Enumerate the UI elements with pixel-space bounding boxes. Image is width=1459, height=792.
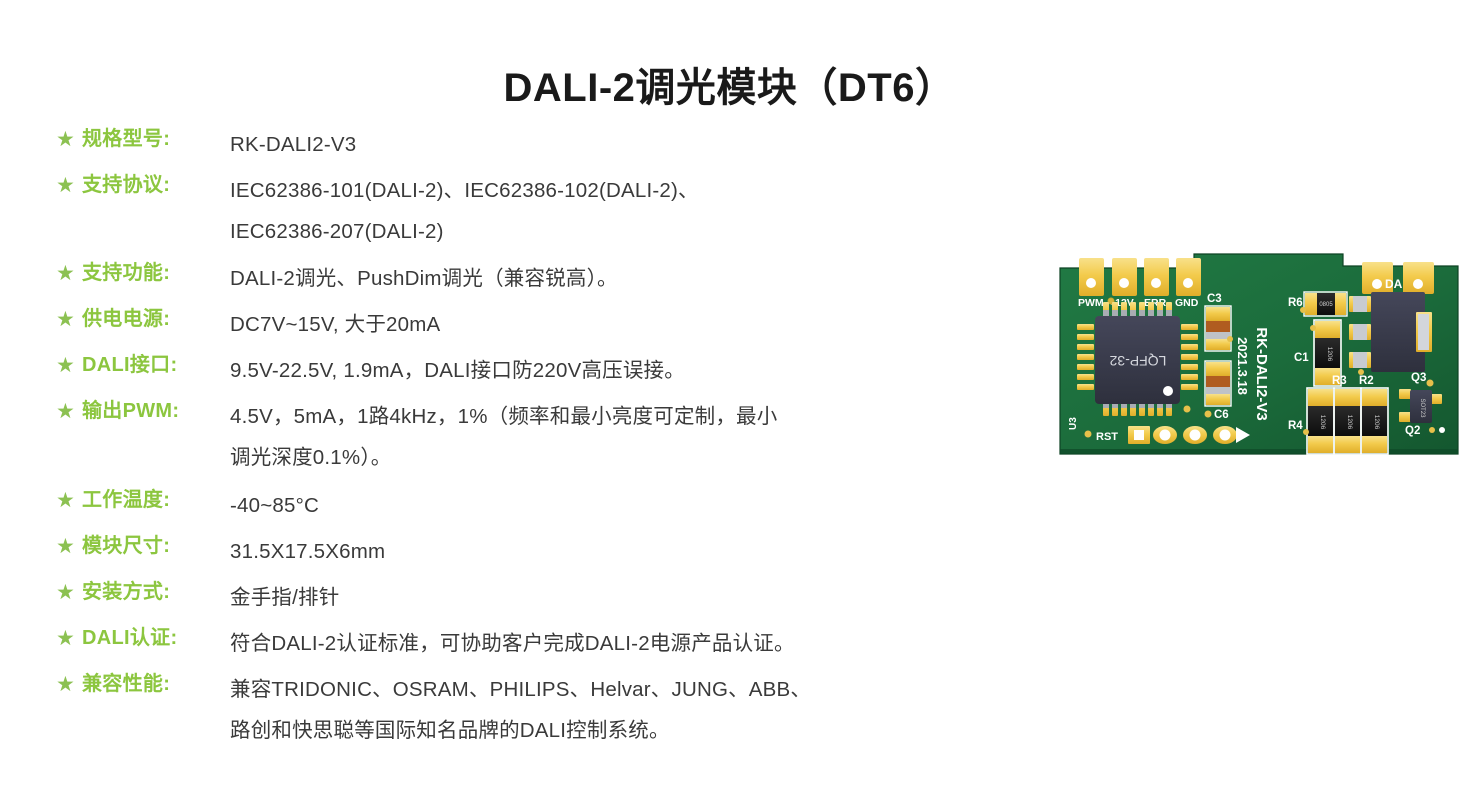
spec-value-model: RK-DALI2-V3 [230,124,976,165]
star-icon: ★ [56,490,82,511]
pcb-board-date: 2021.3.18 [1235,337,1250,395]
star-icon: ★ [56,536,82,557]
spec-row: ★ DALI接口: 9.5V-22.5V, 1.9mA，DALI接口防220V高… [56,350,976,391]
pcb-component-c6: C6 [1205,361,1232,421]
spec-value-line: 9.5V-22.5V, 1.9mA，DALI接口防220V高压误接。 [230,350,976,391]
spec-label-compatibility: 兼容性能: [82,669,230,699]
spec-value-line: DALI-2调光、PushDim调光（兼容锐高）。 [230,258,976,299]
pcb-chip-marking: LQFP-32 [1109,353,1166,369]
spec-row: ★ 工作温度: -40~85°C [56,485,976,526]
spec-value-line: 符合DALI-2认证标准，可协助客户完成DALI-2电源产品认证。 [230,623,976,664]
spec-value-functions: DALI-2调光、PushDim调光（兼容锐高）。 [230,258,976,299]
pcb-label-q2: Q2 [1405,425,1420,437]
pcb-pin-label-err: ERR [1144,297,1167,309]
spec-value-line: 路创和快思聪等国际知名品牌的DALI控制系统。 [230,710,976,751]
spec-value-line: 金手指/排针 [230,577,976,618]
spec-row: ★ 规格型号: RK-DALI2-V3 [56,124,976,165]
star-icon: ★ [56,129,82,150]
spec-value-line: IEC62386-101(DALI-2)、IEC62386-102(DALI-2… [230,170,976,211]
pcb-label-r2: R2 [1359,375,1374,387]
spec-row: ★ 兼容性能: 兼容TRIDONIC、OSRAM、PHILIPS、Helvar、… [56,669,976,751]
spec-value-dali-interface: 9.5V-22.5V, 1.9mA，DALI接口防220V高压误接。 [230,350,976,391]
pcb-board-name: RK-DALI2-V3 [1253,327,1270,420]
pcb-label-q3: Q3 [1411,372,1426,384]
pcb-pin-label-pwm: PWM [1078,297,1104,309]
star-icon: ★ [56,628,82,649]
spec-list: ★ 规格型号: RK-DALI2-V3 ★ 支持协议: IEC62386-101… [56,124,976,751]
spec-label-model: 规格型号: [82,124,230,154]
spec-row: ★ DALI认证: 符合DALI-2认证标准，可协助客户完成DALI-2电源产品… [56,623,976,664]
spec-row: ★ 输出PWM: 4.5V，5mA，1路4kHz，1%（频率和最小亮度可定制，最… [56,396,976,478]
spec-value-line: 4.5V，5mA，1路4kHz，1%（频率和最小亮度可定制，最小 [230,396,976,437]
star-icon: ★ [56,309,82,330]
spec-row: ★ 供电电源: DC7V~15V, 大于20mA [56,304,976,345]
pcb-code-r6: 0805 [1319,302,1333,308]
spec-value-power-supply: DC7V~15V, 大于20mA [230,304,976,345]
spec-value-protocols: IEC62386-101(DALI-2)、IEC62386-102(DALI-2… [230,170,976,252]
pcb-label-r6: R6 [1288,297,1303,309]
pcb-label-da: DA [1385,277,1403,291]
spec-value-line: -40~85°C [230,485,976,526]
pcb-code-c1: 1206 [1326,347,1333,362]
spec-value-pwm-output: 4.5V，5mA，1路4kHz，1%（频率和最小亮度可定制，最小 调光深度0.1… [230,396,976,478]
spec-label-module-size: 模块尺寸: [82,531,230,561]
spec-row: ★ 安装方式: 金手指/排针 [56,577,976,618]
pcb-board-image: PWM +12V ERR GND DA [1058,244,1459,478]
spec-value-line: RK-DALI2-V3 [230,124,976,165]
spec-value-line: DC7V~15V, 大于20mA [230,304,976,345]
spec-value-line: 调光深度0.1%）。 [230,437,976,478]
spec-row: ★ 支持功能: DALI-2调光、PushDim调光（兼容锐高）。 [56,258,976,299]
pcb-label-c3: C3 [1207,293,1222,305]
star-icon: ★ [56,674,82,695]
pcb-label-u3: U3 [1068,417,1079,430]
spec-label-operating-temperature: 工作温度: [82,485,230,515]
spec-value-operating-temperature: -40~85°C [230,485,976,526]
spec-label-functions: 支持功能: [82,258,230,288]
star-icon: ★ [56,355,82,376]
pcb-label-r4: R4 [1288,420,1303,432]
spec-label-protocols: 支持协议: [82,170,230,200]
spec-value-module-size: 31.5X17.5X6mm [230,531,976,572]
pcb-code-q2: SOT23 [1419,398,1425,418]
star-icon: ★ [56,401,82,422]
spec-value-line: IEC62386-207(DALI-2) [230,211,976,252]
spec-label-power-supply: 供电电源: [82,304,230,334]
pcb-label-rst: RST [1096,431,1118,443]
pcb-code-r3: 1206 [1346,415,1353,430]
spec-value-compatibility: 兼容TRIDONIC、OSRAM、PHILIPS、Helvar、JUNG、ABB… [230,669,976,751]
star-icon: ★ [56,175,82,196]
pcb-label-r3: R3 [1332,375,1347,387]
pcb-label-c1: C1 [1294,352,1309,364]
star-icon: ★ [56,582,82,603]
spec-label-dali-certification: DALI认证: [82,623,230,653]
spec-value-dali-certification: 符合DALI-2认证标准，可协助客户完成DALI-2电源产品认证。 [230,623,976,664]
star-icon: ★ [56,263,82,284]
pcb-code-r4: 1206 [1319,415,1326,430]
spec-label-dali-interface: DALI接口: [82,350,230,380]
pcb-test-pads [1128,426,1250,444]
spec-row: ★ 模块尺寸: 31.5X17.5X6mm [56,531,976,572]
pcb-label-c6: C6 [1214,409,1229,421]
pcb-qfp-chip: LQFP-32 [1077,302,1198,416]
spec-value-line: 31.5X17.5X6mm [230,531,976,572]
spec-value-line: 兼容TRIDONIC、OSRAM、PHILIPS、Helvar、JUNG、ABB… [230,669,976,710]
spec-row: ★ 支持协议: IEC62386-101(DALI-2)、IEC62386-10… [56,170,976,252]
pcb-code-r2: 1206 [1373,415,1380,430]
page-title: DALI-2调光模块（DT6） [0,55,1459,113]
spec-label-pwm-output: 输出PWM: [82,396,230,426]
pcb-pin-label-gnd: GND [1175,297,1199,309]
pcb-q3-pads [1349,296,1371,368]
pcb-component-q3: Q3 [1371,292,1432,384]
spec-value-mounting: 金手指/排针 [230,577,976,618]
spec-label-mounting: 安装方式: [82,577,230,607]
pcb-svg: PWM +12V ERR GND DA [1058,244,1459,478]
